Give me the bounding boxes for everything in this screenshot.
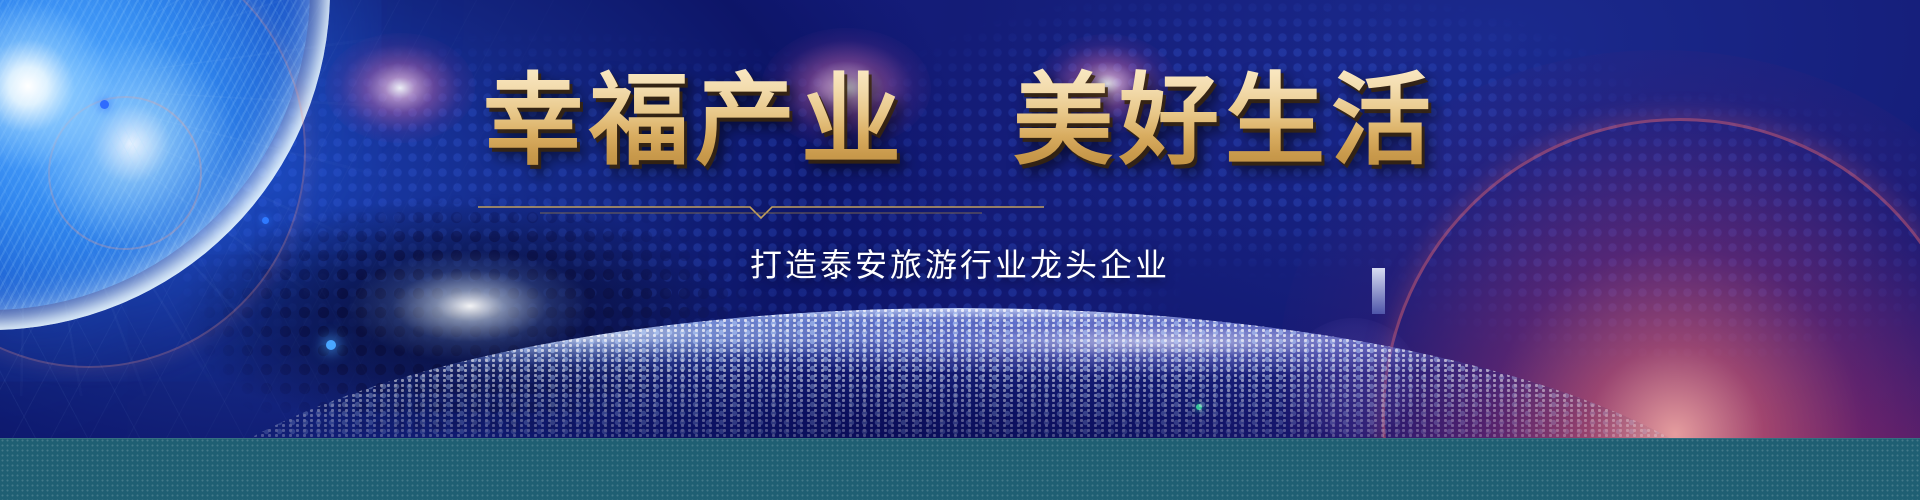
bottom-teal-bar xyxy=(0,438,1920,500)
diamond-chevron-divider-icon xyxy=(478,196,1044,222)
page-title: 幸福产业 美好生活 xyxy=(0,62,1920,180)
headline-text: 幸福产业 美好生活 xyxy=(483,62,1437,180)
divider-ornament xyxy=(478,196,1044,222)
hero-banner: 幸福产业 美好生活 打造泰安旅游行业龙头企业 xyxy=(0,0,1920,500)
subtitle-text: 打造泰安旅游行业龙头企业 xyxy=(0,240,1920,286)
bottom-bar-top-edge xyxy=(0,438,1920,439)
